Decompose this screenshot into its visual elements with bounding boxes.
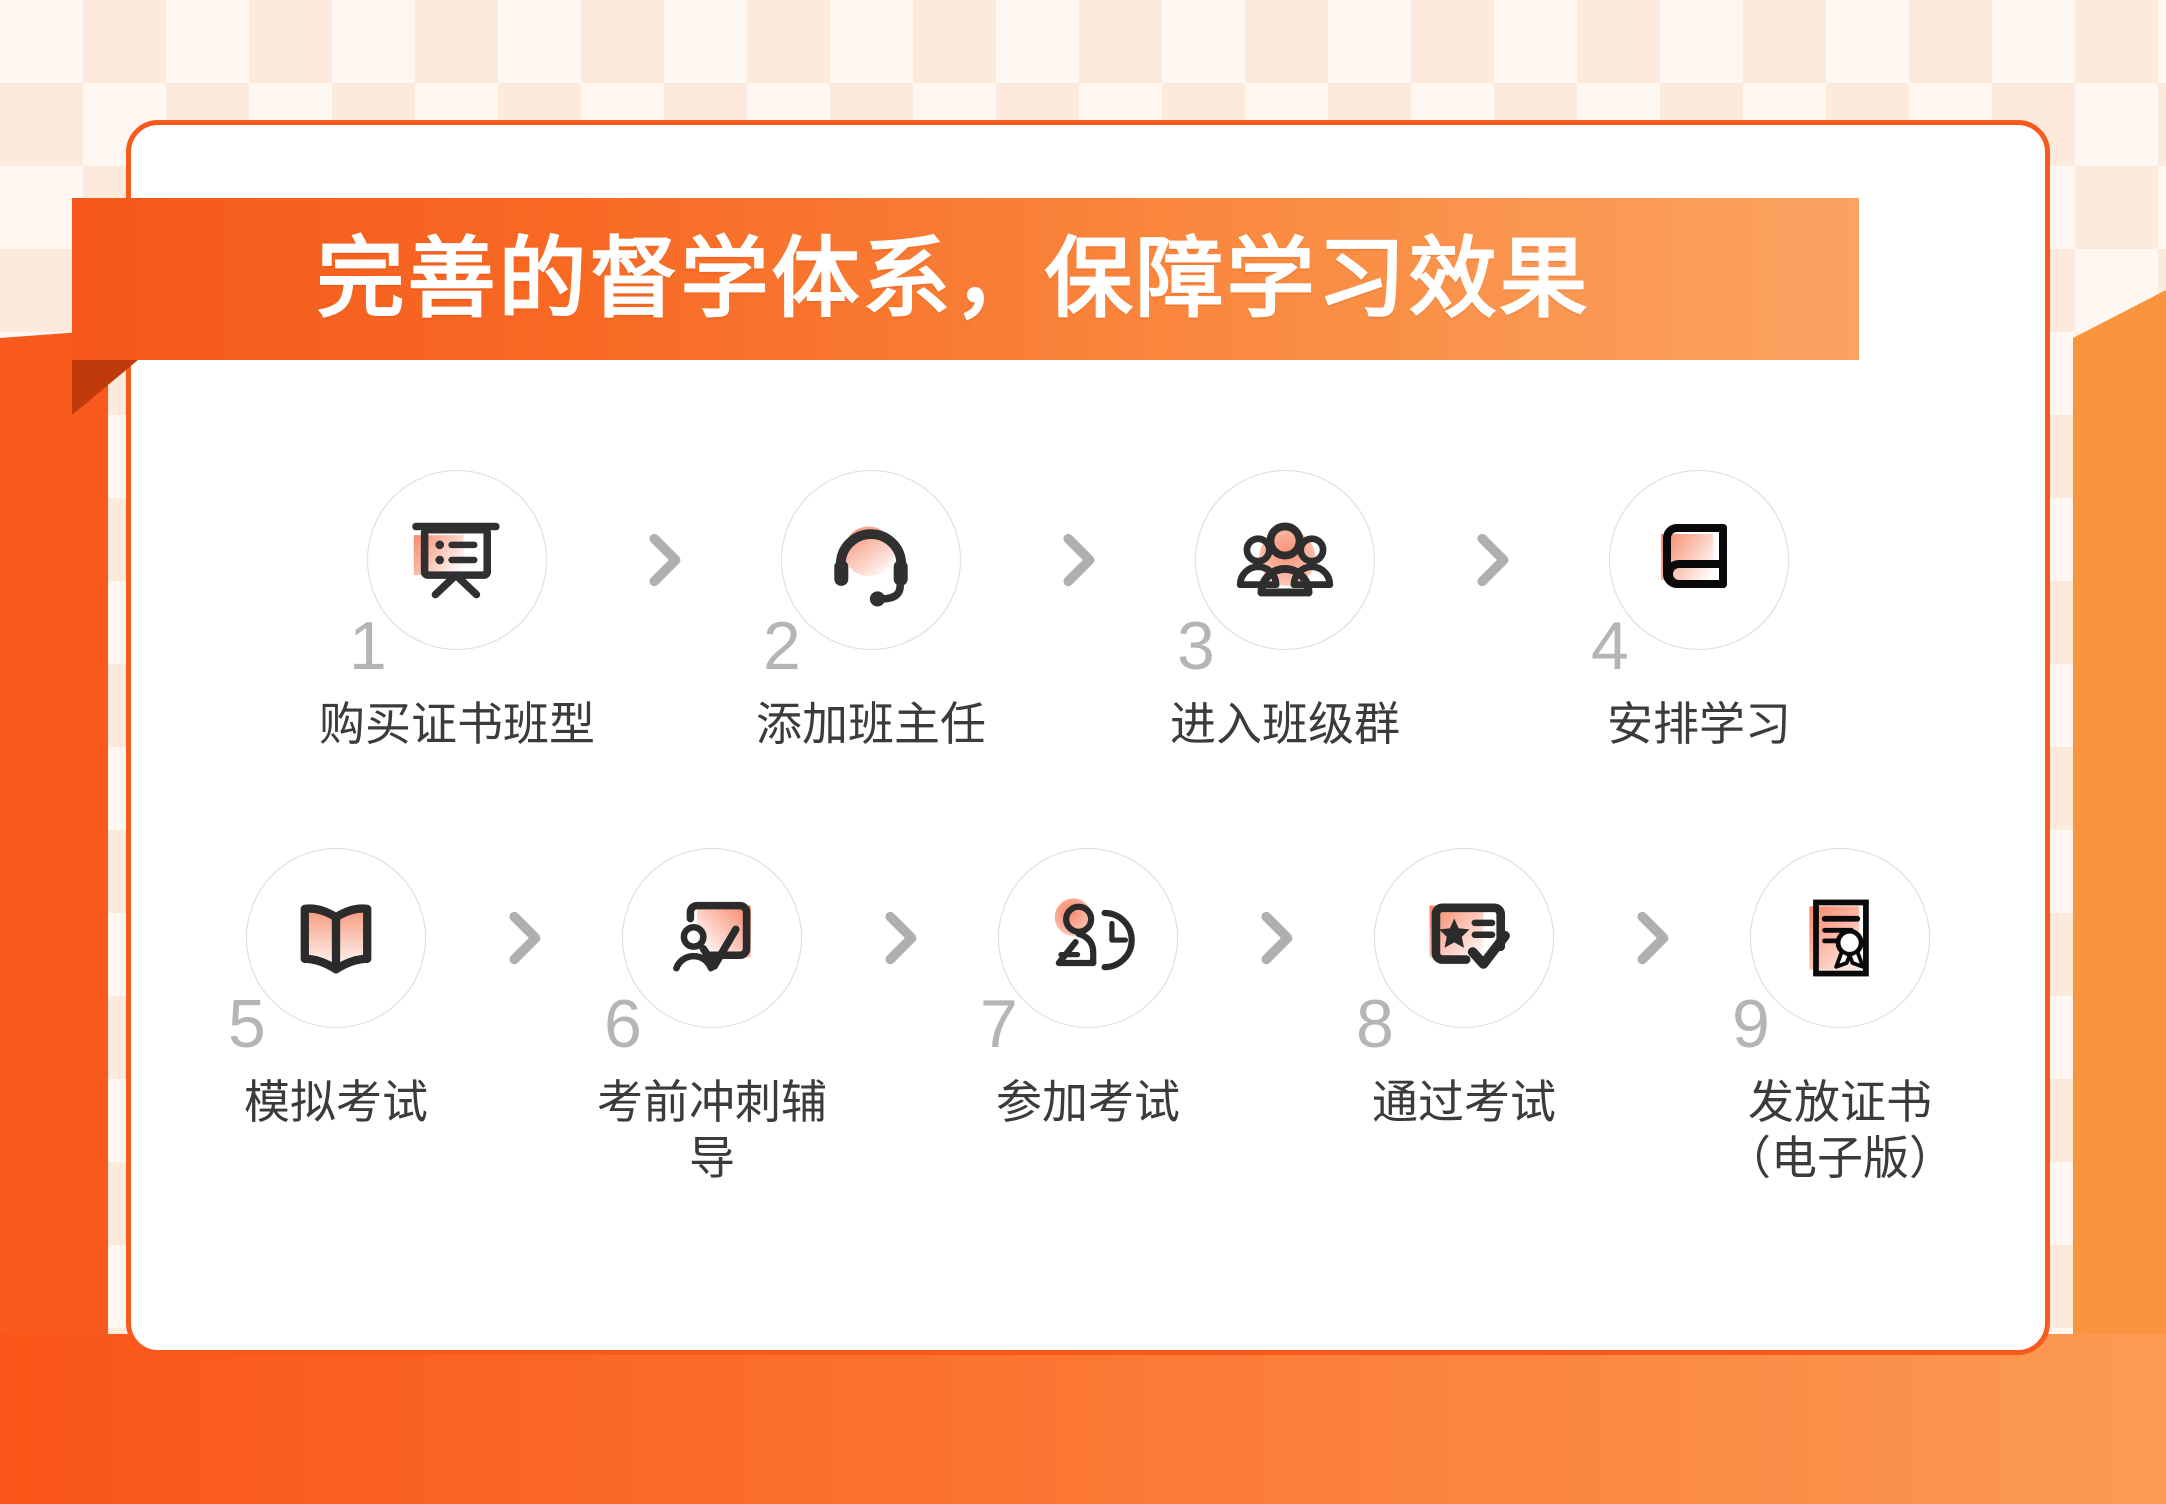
step-label: 安排学习 (1607, 696, 1791, 752)
step-9-circle-wrap: 9 (1750, 848, 1930, 1028)
person-checkmark-board-icon (622, 848, 802, 1028)
step-label: 进入班级群 (1170, 696, 1400, 752)
step-item-4[interactable]: 4 安排学习 (1556, 470, 1842, 752)
step-number: 8 (1356, 990, 1394, 1058)
step-label: 考前冲刺辅导 (583, 1074, 841, 1186)
step-item-6[interactable]: 6 考前冲刺辅导 (583, 848, 841, 1186)
step-3-circle-wrap: 3 (1195, 470, 1375, 650)
step-number: 6 (604, 990, 642, 1058)
steps-row-2: 5 模拟考试 (126, 848, 2050, 1186)
step-6-circle-wrap: 6 (622, 848, 802, 1028)
bottom-orange-gradient-band (0, 1334, 2166, 1504)
step-5-circle-wrap: 5 (246, 848, 426, 1028)
chevron-right-icon (600, 470, 728, 650)
step-item-7[interactable]: 7 参加考试 (959, 848, 1217, 1130)
step-item-1[interactable]: 1 购买证书班型 (314, 470, 600, 752)
step-2-circle-wrap: 2 (781, 470, 961, 650)
step-label: 添加班主任 (756, 696, 986, 752)
step-4-circle-wrap: 4 (1609, 470, 1789, 650)
step-number: 5 (228, 990, 266, 1058)
step-number: 3 (1177, 612, 1215, 680)
step-label: 通过考试 (1372, 1074, 1556, 1130)
chevron-right-icon (1593, 848, 1711, 1028)
ribbon-fold-triangle (72, 360, 138, 415)
step-item-8[interactable]: 8 通过考试 (1335, 848, 1593, 1130)
step-number: 2 (763, 612, 801, 680)
certificate-card-check-icon (1374, 848, 1554, 1028)
right-orange-band (2073, 290, 2166, 1504)
group-people-icon (1195, 470, 1375, 650)
step-label: 发放证书 （电子版） (1725, 1074, 1955, 1186)
step-item-2[interactable]: 2 添加班主任 (728, 470, 1014, 752)
student-clock-icon (998, 848, 1178, 1028)
step-number: 4 (1591, 612, 1629, 680)
page-title: 完善的督学体系，保障学习效果 (316, 235, 1590, 323)
chevron-right-icon (465, 848, 583, 1028)
closed-book-icon (1609, 470, 1789, 650)
step-item-9[interactable]: 9 发放证书 （电子版） (1711, 848, 1969, 1186)
steps-row-1: 1 购买证书班型 (126, 470, 2050, 752)
chevron-right-icon (1217, 848, 1335, 1028)
presentation-board-icon (367, 470, 547, 650)
step-label: 模拟考试 (244, 1074, 428, 1130)
step-label: 参加考试 (996, 1074, 1180, 1130)
chevron-right-icon (1014, 470, 1142, 650)
steps-flow: 1 购买证书班型 (126, 470, 2050, 1186)
step-number: 9 (1732, 990, 1770, 1058)
chevron-right-icon (1428, 470, 1556, 650)
step-7-circle-wrap: 7 (998, 848, 1178, 1028)
step-1-circle-wrap: 1 (367, 470, 547, 650)
headset-icon (781, 470, 961, 650)
step-8-circle-wrap: 8 (1374, 848, 1554, 1028)
chevron-right-icon (841, 848, 959, 1028)
certificate-ribbon-icon (1750, 848, 1930, 1028)
open-book-icon (246, 848, 426, 1028)
step-item-3[interactable]: 3 进入班级群 (1142, 470, 1428, 752)
left-orange-band (0, 330, 108, 1504)
step-label: 购买证书班型 (319, 696, 595, 752)
step-number: 7 (980, 990, 1018, 1058)
step-item-5[interactable]: 5 模拟考试 (207, 848, 465, 1130)
ribbon-banner: 完善的督学体系，保障学习效果 (72, 198, 1859, 360)
step-number: 1 (349, 612, 387, 680)
